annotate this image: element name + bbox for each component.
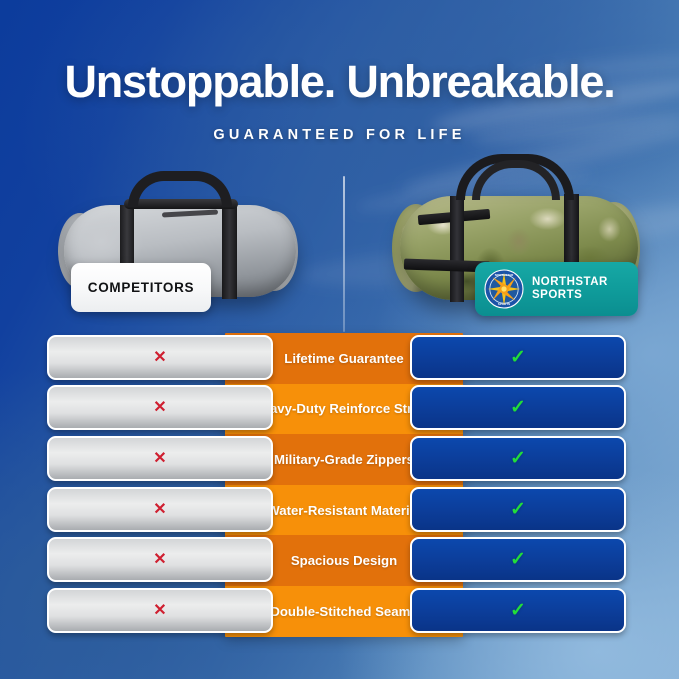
check-icon: ✓ [510,398,526,417]
bag-handle [128,171,232,207]
table-row: ✕ ✓ [0,385,679,430]
table-row: ✕ ✓ [0,537,679,582]
competitor-cell: ✕ [47,537,273,582]
table-row: ✕ ✓ [0,588,679,633]
check-icon: ✓ [510,550,526,569]
northstar-sports-badge: NORTHSTAR SPORTS NORTHSTAR SPORTS [475,262,638,316]
check-icon: ✓ [510,500,526,519]
bag-strap [450,196,464,302]
competitor-cell: ✕ [47,487,273,532]
northstar-compass-logo-icon: NORTHSTAR SPORTS [484,269,524,309]
northstar-cell: ✓ [410,487,626,532]
cross-icon: ✕ [153,603,166,619]
bag-strap [222,203,237,299]
competitor-cell: ✕ [47,335,273,380]
check-icon: ✓ [510,449,526,468]
cross-icon: ✕ [153,451,166,467]
brand-name-line1: NORTHSTAR [532,276,608,288]
northstar-cell: ✓ [410,537,626,582]
cross-icon: ✕ [153,502,166,518]
cross-icon: ✕ [153,400,166,416]
northstar-cell: ✓ [410,588,626,633]
table-row: ✕ ✓ [0,436,679,481]
vertical-divider [343,176,345,332]
comparison-table: Lifetime Guarantee Heavy-Duty Reinforce … [0,333,679,637]
competitor-cell: ✕ [47,588,273,633]
brand-name-line2: SPORTS [532,289,582,301]
northstar-badge-text: NORTHSTAR SPORTS [532,276,608,303]
northstar-cell: ✓ [410,436,626,481]
check-icon: ✓ [510,601,526,620]
cross-icon: ✕ [153,552,166,568]
northstar-cell: ✓ [410,385,626,430]
competitors-label-text: COMPETITORS [88,280,194,295]
promo-comparison-graphic: Unstoppable. Unbreakable. GUARANTEED FOR… [0,0,679,679]
competitors-label: COMPETITORS [71,263,211,312]
svg-text:SPORTS: SPORTS [498,302,510,306]
northstar-cell: ✓ [410,335,626,380]
competitor-cell: ✕ [47,436,273,481]
headline: Unstoppable. Unbreakable. [0,56,679,108]
check-icon: ✓ [510,348,526,367]
subheadline: GUARANTEED FOR LIFE [0,127,679,143]
competitor-cell: ✕ [47,385,273,430]
table-row: ✕ ✓ [0,335,679,380]
svg-text:NORTHSTAR: NORTHSTAR [495,273,514,277]
cross-icon: ✕ [153,350,166,366]
table-row: ✕ ✓ [0,487,679,532]
